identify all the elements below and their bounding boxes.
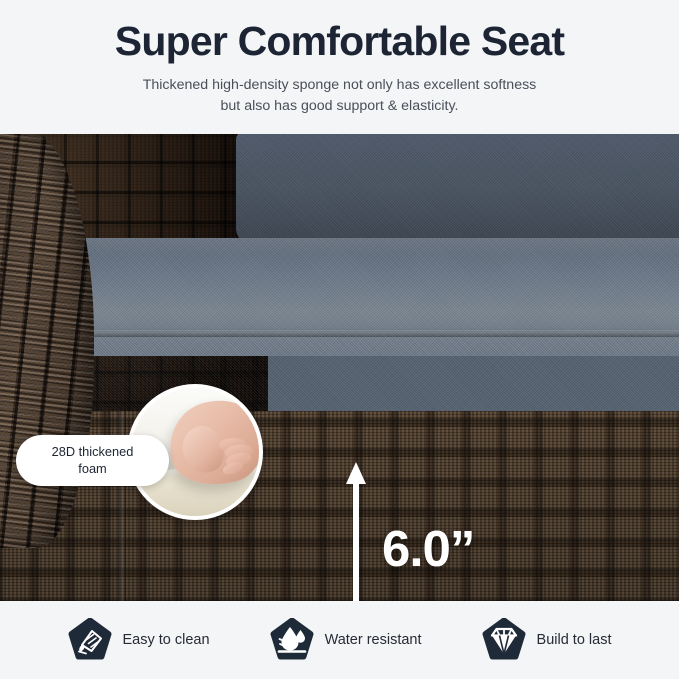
callout-pill-foam-density: 28D thickened foam [16, 435, 169, 486]
feature-label: Build to last [537, 632, 612, 648]
dimension-label: 6.0” [382, 519, 474, 578]
subtitle-line-2: but also has good support & elasticity. [0, 96, 679, 117]
product-infographic: Super Comfortable Seat Thickened high-de… [0, 0, 679, 679]
callout-pill-line-2: foam [30, 461, 155, 478]
callout-pill-line-1: 28D thickened [30, 444, 155, 461]
feature-water-resistant: Water resistant [270, 618, 422, 662]
dimension-arrow-icon [341, 462, 371, 601]
page-subtitle: Thickened high-density sponge not only h… [0, 75, 679, 117]
feature-label: Easy to clean [123, 632, 210, 648]
subtitle-line-1: Thickened high-density sponge not only h… [0, 75, 679, 96]
feature-easy-to-clean: Easy to clean [68, 618, 210, 662]
hand-wipe-icon [68, 618, 112, 662]
water-drop-icon [270, 618, 314, 662]
feature-label: Water resistant [325, 632, 422, 648]
page-title: Super Comfortable Seat [0, 16, 679, 66]
feature-bar: Easy to clean Water resistant Build to l… [0, 601, 679, 679]
header-section: Super Comfortable Seat Thickened high-de… [0, 0, 679, 134]
feature-build-to-last: Build to last [482, 618, 612, 662]
diamond-icon [482, 618, 526, 662]
backrest-cushion [236, 134, 679, 252]
product-photo: 28D thickened foam 6.0” [0, 134, 679, 601]
